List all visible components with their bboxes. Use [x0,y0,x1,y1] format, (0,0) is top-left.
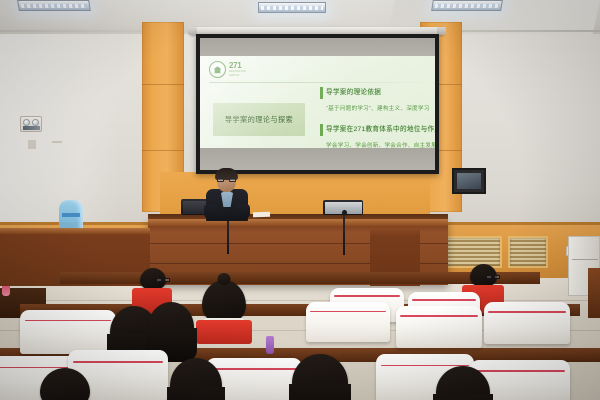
letterbox-top [200,38,435,56]
presentation-slide: 271 EDUCATION GROUP 导学案的理论与探索 导学案的理论依据 “… [200,56,435,148]
audience-chair[interactable] [20,310,116,354]
audience-chair[interactable] [396,306,482,348]
school-seal-icon [209,61,226,78]
projection-screen[interactable]: 271 EDUCATION GROUP 导学案的理论与探索 导学案的理论依据 “… [196,34,439,174]
slide-divider [209,82,431,83]
water-bottle [266,336,274,354]
slide-title-text: 导学案的理论与探索 [225,115,293,125]
eyeglasses-icon [486,275,500,279]
attendee-head [148,302,194,346]
bullet-marker-icon [320,87,323,99]
eyeglasses-icon [217,178,236,182]
bullet-subtext: “基于问题的学习”、建构主义、深度学习 [326,104,430,112]
bullet-heading: 导学案的理论依据 [326,86,430,96]
ceiling-light-icon [258,2,326,13]
slide-title-box: 导学案的理论与探索 [213,103,305,136]
audience-desk-row [60,272,540,284]
emergency-light-icon [20,116,42,132]
logo-subtitle-2: GROUP [229,74,246,77]
slide-bullet-1: 导学案的理论依据 “基于问题的学习”、建构主义、深度学习 [326,86,430,112]
wall-monitor [452,168,486,194]
bullet-heading: 导学案在271教育体系中的地位与作用 [326,123,435,133]
papers [253,212,270,218]
bullet-marker-icon [320,124,323,136]
letterbox-bottom [200,148,435,170]
eyeglasses-icon [156,278,170,282]
lecture-hall-photo: 271 EDUCATION GROUP 导学案的理论与探索 导学案的理论依据 “… [0,0,600,400]
attendee-uniform [196,320,252,344]
wall-mark [52,141,62,143]
ceiling-light-icon [431,0,503,11]
audience-area [0,262,600,400]
bullet-subtext: 学会学习、学会创新、学会合作、自主发展的路径 [326,141,435,148]
slide-logo: 271 EDUCATION GROUP [209,61,246,78]
audience-chair[interactable] [484,302,570,344]
microphone-right[interactable] [343,213,345,255]
slide-bullet-2: 导学案在271教育体系中的地位与作用 学会学习、学会创新、学会合作、自主发展的路… [326,123,435,148]
audience-chair[interactable] [306,302,390,342]
wall-mark [28,140,36,149]
presenter [206,170,248,220]
ceiling-light-icon [17,0,91,11]
